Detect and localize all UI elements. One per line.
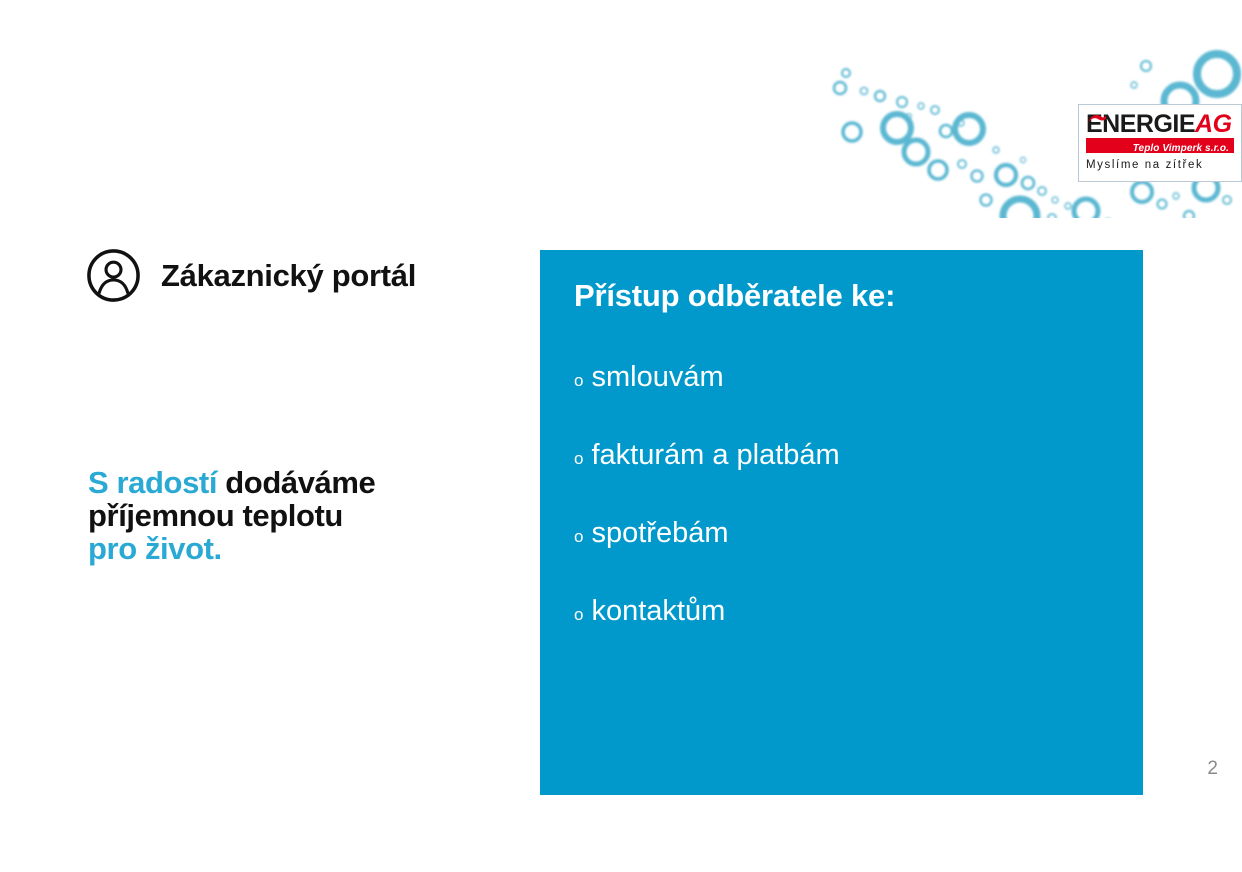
tagline-plain-1: dodáváme	[225, 465, 375, 500]
bullet-icon: o	[574, 450, 583, 467]
bullet-icon: o	[574, 372, 583, 389]
list-item-label: kontaktům	[591, 597, 725, 626]
content-panel: Přístup odběratele ke: o smlouvám o fakt…	[540, 250, 1143, 795]
bullet-icon: o	[574, 606, 583, 623]
logo-division-bar: Teplo Vimperk s.r.o.	[1086, 138, 1234, 153]
tagline-accent-1: S radostí	[88, 465, 225, 500]
list-item-label: smlouvám	[591, 363, 723, 392]
logo-suffix: AG	[1195, 110, 1232, 138]
brand-tagline: S radostí dodáváme příjemnou teplotu pro…	[88, 466, 375, 565]
user-circle-icon	[86, 248, 141, 303]
company-logo: ENERGIEAG Teplo Vimperk s.r.o. Myslíme n…	[1078, 104, 1242, 182]
tagline-line-1: S radostí dodáváme	[88, 466, 375, 499]
list-item: o kontaktům	[574, 597, 1109, 626]
logo-claim: Myslíme na zítřek	[1086, 159, 1234, 171]
logo-wordmark: ENERGIEAG	[1086, 111, 1234, 137]
list-item: o fakturám a platbám	[574, 441, 1109, 470]
tagline-line-2: příjemnou teplotu	[88, 499, 375, 532]
list-item: o spotřebám	[574, 519, 1109, 548]
panel-heading: Přístup odběratele ke:	[574, 278, 1109, 314]
logo-division: Teplo Vimperk s.r.o.	[1133, 143, 1229, 154]
page-number: 2	[1207, 758, 1218, 780]
list-item-label: fakturám a platbám	[591, 441, 839, 470]
customer-portal-heading: Zákaznický portál	[86, 248, 416, 303]
portal-title: Zákaznický portál	[161, 258, 416, 294]
list-item: o smlouvám	[574, 363, 1109, 392]
tagline-line-3: pro život.	[88, 532, 375, 565]
list-item-label: spotřebám	[591, 519, 728, 548]
bullet-icon: o	[574, 528, 583, 545]
panel-list: o smlouvám o fakturám a platbám o spotře…	[574, 363, 1109, 626]
flame-icon	[1088, 113, 1107, 122]
slide: ENERGIEAG Teplo Vimperk s.r.o. Myslíme n…	[0, 0, 1242, 872]
